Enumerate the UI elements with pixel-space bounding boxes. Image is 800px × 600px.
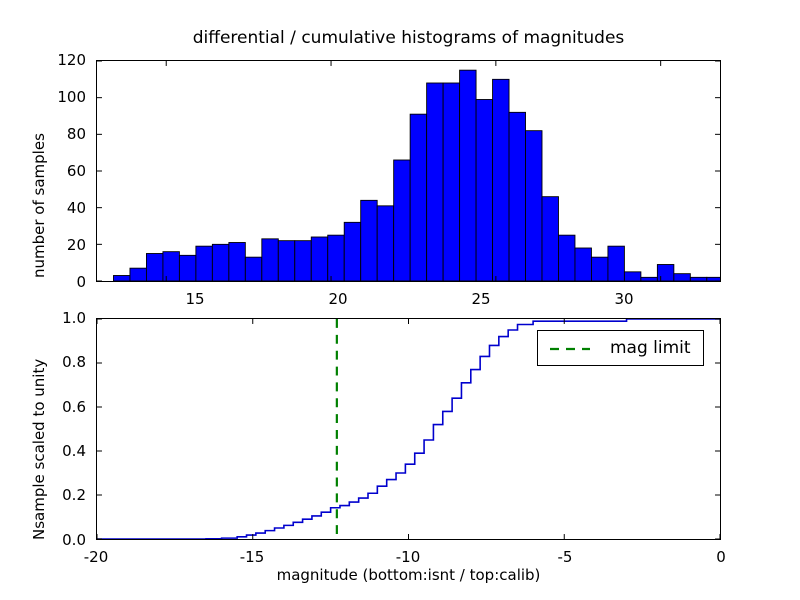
bottom-xtick--10: -10 (396, 548, 421, 566)
histogram-bar (608, 246, 624, 281)
bottom-ytick-04: 0.4 (30, 442, 86, 460)
legend: mag limit (537, 330, 704, 366)
differential-histogram-plot (97, 61, 720, 281)
histogram-bar (624, 272, 640, 281)
top-xtick-25: 25 (471, 290, 490, 308)
top-ytick-0: 0 (40, 273, 86, 291)
histogram-bar (328, 235, 344, 281)
bottom-xtick--15: -15 (240, 548, 265, 566)
histogram-bar (674, 274, 690, 281)
histogram-bar (657, 265, 673, 282)
histogram-bar (690, 277, 706, 281)
top-ytick-20: 20 (40, 236, 86, 254)
top-xtick-20: 20 (328, 290, 347, 308)
histogram-bar (460, 70, 476, 281)
histogram-bar (113, 276, 129, 282)
bottom-ytick-02: 0.2 (30, 486, 86, 504)
histogram-bar (542, 197, 558, 281)
histogram-bar (641, 277, 657, 281)
histogram-bar (212, 244, 228, 281)
histogram-bar (229, 243, 245, 282)
figure-title: differential / cumulative histograms of … (96, 28, 721, 48)
histogram-bars (113, 70, 720, 281)
top-ytick-100: 100 (40, 88, 86, 106)
top-ytick-40: 40 (40, 199, 86, 217)
bottom-ytick-00: 0.0 (30, 531, 86, 549)
histogram-bar (361, 200, 377, 281)
histogram-bar (591, 257, 607, 281)
bottom-xtick--20: -20 (84, 548, 109, 566)
histogram-bar (558, 235, 574, 281)
histogram-bar (427, 83, 443, 281)
histogram-bar (179, 255, 195, 281)
top-axes-differential-histogram (96, 60, 721, 282)
histogram-bar (130, 268, 146, 281)
top-ytick-60: 60 (40, 162, 86, 180)
histogram-bar (410, 114, 426, 281)
top-ytick-80: 80 (40, 125, 86, 143)
histogram-bar (493, 79, 509, 281)
top-xtick-30: 30 (614, 290, 633, 308)
histogram-bar (575, 248, 591, 281)
histogram-bar (443, 83, 459, 281)
histogram-bar (377, 206, 393, 281)
legend-label-mag-limit: mag limit (610, 338, 691, 358)
mag-limit-dashed-line-icon (548, 341, 592, 355)
matplotlib-figure: differential / cumulative histograms of … (0, 0, 800, 600)
histogram-bar (245, 257, 261, 281)
figure-xlabel: magnitude (bottom:isnt / top:calib) (96, 566, 721, 584)
histogram-bar (394, 160, 410, 281)
legend-line-swatch-svg (548, 342, 592, 356)
bottom-ytick-06: 0.6 (30, 398, 86, 416)
histogram-bar (262, 239, 278, 281)
histogram-bar (509, 112, 525, 281)
histogram-bar (146, 254, 162, 282)
bottom-ytick-08: 0.8 (30, 353, 86, 371)
top-ytick-120: 120 (40, 51, 86, 69)
histogram-bar (196, 246, 212, 281)
histogram-bar (526, 131, 542, 281)
histogram-bar (311, 237, 327, 281)
histogram-bar (163, 252, 179, 281)
histogram-bar (476, 100, 492, 282)
bottom-xtick-0: 0 (716, 548, 726, 566)
top-xtick-15: 15 (185, 290, 204, 308)
histogram-bar (295, 241, 311, 281)
histogram-bar (707, 277, 720, 281)
histogram-bar (344, 222, 360, 281)
bottom-xtick--5: -5 (558, 548, 573, 566)
bottom-ytick-10: 1.0 (30, 309, 86, 327)
histogram-bar (278, 241, 294, 281)
